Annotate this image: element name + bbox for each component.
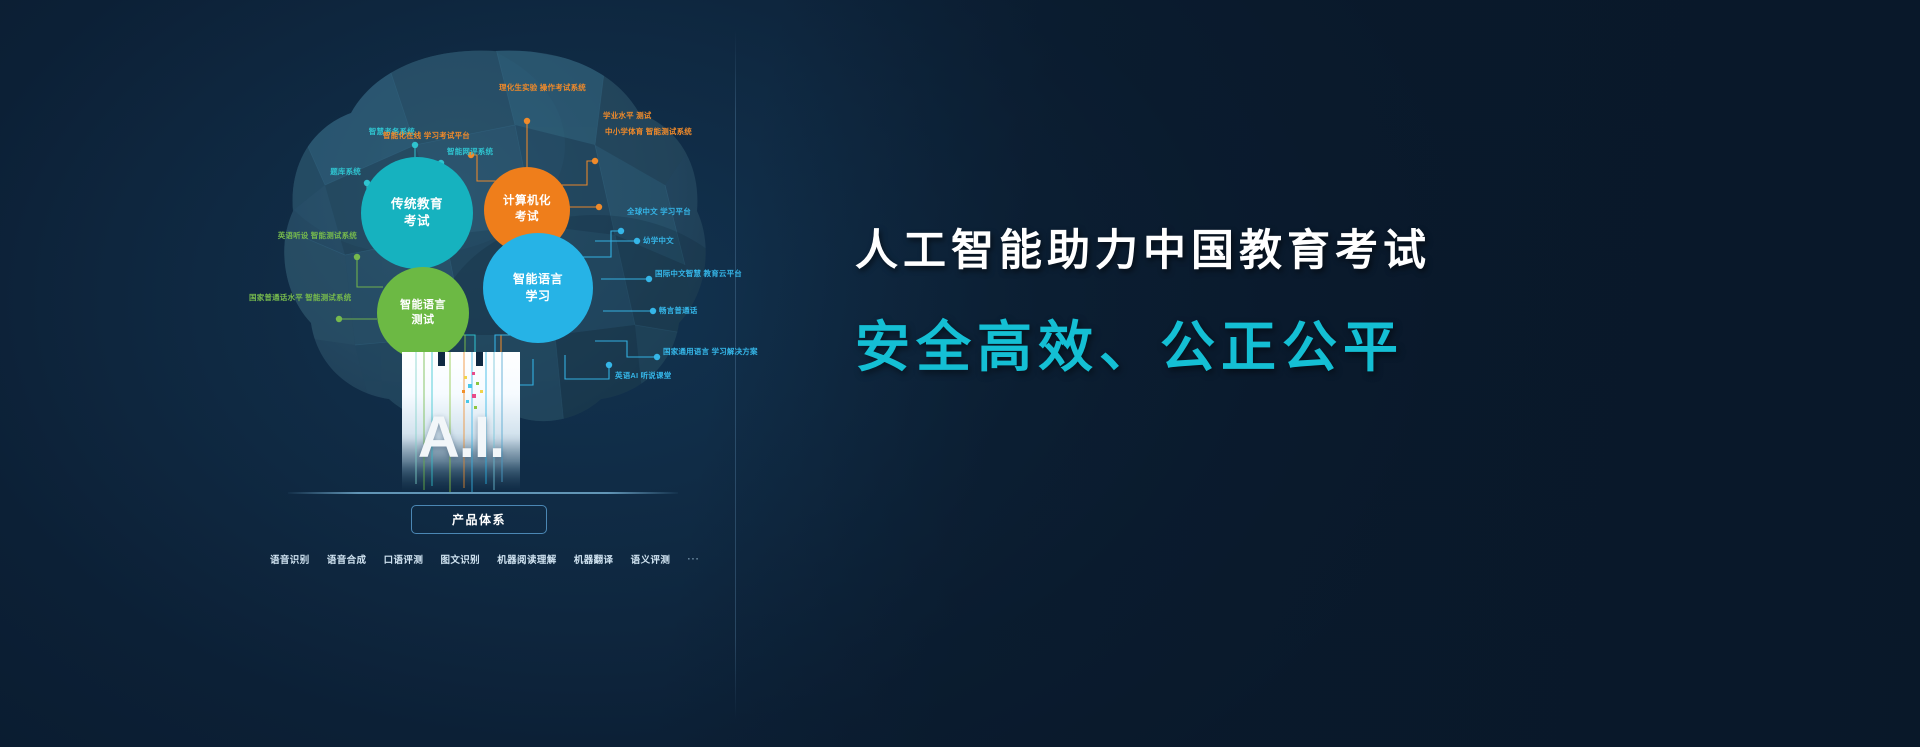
leaf-text-line2: 学习平台 bbox=[660, 207, 691, 216]
node-traditional-education[interactable]: 传统教育 考试 bbox=[361, 157, 473, 269]
leaf-text-line2: 智能测试系统 bbox=[311, 231, 357, 240]
leaf-text-line2: 智能测试系统 bbox=[646, 127, 692, 136]
hero-headline: 人工智能助力中国教育考试 bbox=[855, 228, 1755, 275]
leaf-label-global-chinese-learning-platform[interactable]: 全球中文 学习平台 bbox=[627, 207, 691, 218]
leaf-label-national-language-solution[interactable]: 国家通用语言 学习解决方案 bbox=[663, 347, 758, 358]
leaf-text-line2: 操作考试系统 bbox=[540, 83, 586, 92]
leaf-label-school-sports-smart-test[interactable]: 中小学体育 智能测试系统 bbox=[605, 127, 692, 138]
hero-subheadline: 安全高效、公正公平 bbox=[855, 317, 1755, 378]
leaf-text-line1: 英语AI bbox=[615, 371, 638, 380]
capability-tag[interactable]: 机器阅读理解 bbox=[497, 552, 556, 566]
capability-tag[interactable]: 口语评测 bbox=[384, 552, 424, 566]
ai-trunk: A.I. bbox=[402, 352, 520, 492]
capability-tag-more[interactable]: ··· bbox=[687, 554, 700, 565]
leaf-text-line1: 理化生实验 bbox=[499, 83, 538, 92]
node-smart-language-test[interactable]: 智能语言 测试 bbox=[377, 267, 469, 359]
leaf-text-line2: 听说课堂 bbox=[641, 371, 672, 380]
leaf-text-line2: 学习解决方案 bbox=[712, 347, 758, 356]
leaf-text-line1: 智能化在线 bbox=[383, 131, 422, 140]
node-smart-language-learning[interactable]: 智能语言 学习 bbox=[483, 233, 593, 343]
leaf-text-line1: 国际中文智慧 bbox=[655, 269, 701, 278]
leaf-label-question-bank[interactable]: 题库系统 bbox=[289, 167, 361, 178]
leaf-text: 题库系统 bbox=[330, 167, 361, 176]
leaf-text-line2: 教育云平台 bbox=[704, 269, 743, 278]
leaf-text-line1: 英语听设 bbox=[278, 231, 309, 240]
leaf-label-english-ai-classroom[interactable]: 英语AI 听说课堂 bbox=[615, 371, 671, 382]
leaf-text-line1: 中小学体育 bbox=[605, 127, 644, 136]
leaf-label-english-listening-speaking-test[interactable]: 英语听设 智能测试系统 bbox=[275, 231, 357, 242]
leaf-text-line1: 全球中文 bbox=[627, 207, 658, 216]
baseline-rule bbox=[288, 492, 678, 494]
capability-tag[interactable]: 语音合成 bbox=[327, 552, 367, 566]
leaf-text-line1: 国家普通话水平 bbox=[249, 293, 303, 302]
node-label-line2: 测试 bbox=[400, 313, 446, 328]
panel-divider bbox=[735, 30, 736, 720]
capability-tag[interactable]: 机器翻译 bbox=[574, 552, 614, 566]
product-system-pill[interactable]: 产品体系 bbox=[411, 505, 547, 534]
leaf-text-line2: 学习考试平台 bbox=[424, 131, 470, 140]
leaf-label-young-chinese[interactable]: 幼学中文 bbox=[643, 236, 674, 247]
ai-wordmark: A.I. bbox=[402, 404, 520, 471]
capability-tag[interactable]: 图文识别 bbox=[440, 552, 480, 566]
hero-banner: 传统教育 考试 计算机化 考试 智能语言 测试 智能语言 学习 bbox=[0, 0, 1920, 747]
infographic-panel: 传统教育 考试 计算机化 考试 智能语言 测试 智能语言 学习 bbox=[230, 0, 735, 747]
node-label-line1: 传统教育 bbox=[391, 196, 443, 213]
leaf-label-changyan-putonghua[interactable]: 畅言普通话 bbox=[659, 306, 698, 317]
hero-copy: 人工智能助力中国教育考试 安全高效、公正公平 bbox=[855, 228, 1755, 378]
node-label-line1: 智能语言 bbox=[400, 298, 446, 313]
node-label-line2: 考试 bbox=[391, 213, 443, 230]
node-label-line1: 智能语言 bbox=[513, 271, 563, 288]
capability-tag-row: 语音识别 语音合成 口语评测 图文识别 机器阅读理解 机器翻译 语义评测 ··· bbox=[270, 552, 700, 566]
leaf-label-online-learning-exam-platform[interactable]: 智能化在线 学习考试平台 bbox=[383, 131, 467, 142]
leaf-label-smart-online-marking[interactable]: 智能网评系统 bbox=[447, 147, 493, 158]
leaf-label-national-putonghua-test[interactable]: 国家普通话水平 智能测试系统 bbox=[249, 293, 339, 304]
leaf-text-line1: 畅言普通话 bbox=[659, 306, 698, 315]
product-system-label: 产品体系 bbox=[452, 511, 506, 528]
node-label-line1: 计算机化 bbox=[503, 194, 551, 210]
leaf-text-line1: 国家通用语言 bbox=[663, 347, 709, 356]
leaf-text-line2: 测试 bbox=[636, 111, 651, 120]
leaf-text-line1: 学业水平 bbox=[603, 111, 634, 120]
capability-tag[interactable]: 语义评测 bbox=[631, 552, 671, 566]
leaf-text-line2: 智能测试系统 bbox=[305, 293, 351, 302]
capability-tag[interactable]: 语音识别 bbox=[270, 552, 310, 566]
node-label-line2: 学习 bbox=[513, 288, 563, 305]
leaf-text-line1: 幼学中文 bbox=[643, 236, 674, 245]
leaf-text: 智能网评系统 bbox=[447, 147, 493, 156]
node-label-line2: 考试 bbox=[503, 210, 551, 226]
leaf-label-intl-chinese-cloud-platform[interactable]: 国际中文智慧 教育云平台 bbox=[655, 269, 742, 280]
leaf-label-science-lab-operation-exam[interactable]: 理化生实验 操作考试系统 bbox=[499, 83, 586, 94]
leaf-label-academic-level-test[interactable]: 学业水平 测试 bbox=[603, 111, 652, 122]
